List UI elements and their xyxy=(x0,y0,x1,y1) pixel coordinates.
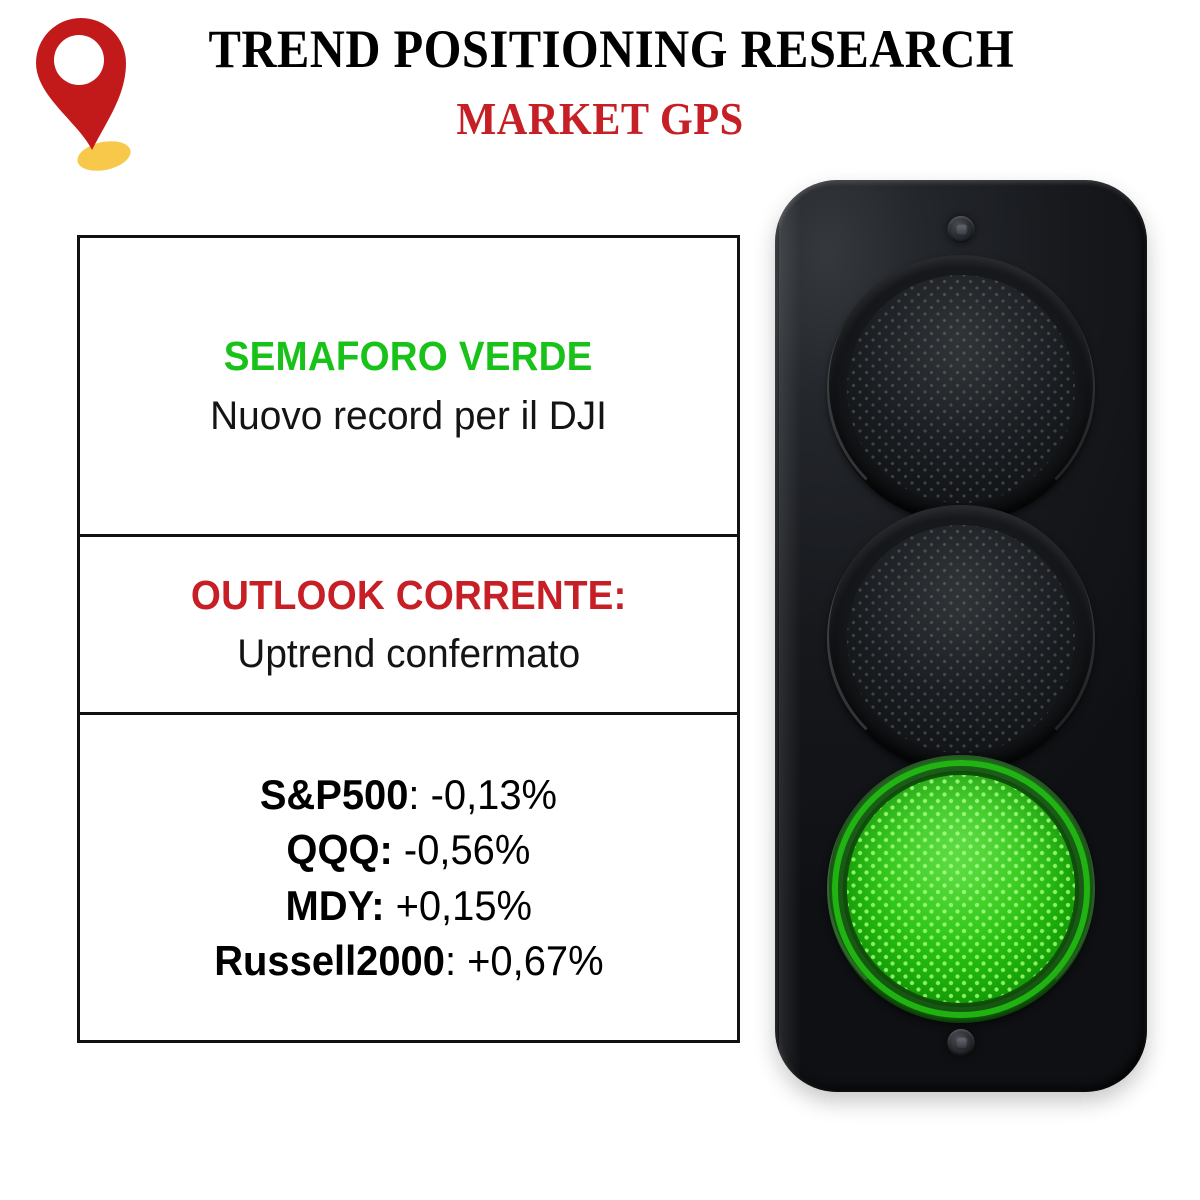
index-separator: : xyxy=(408,771,430,818)
outlook-subtext: Uptrend confermato xyxy=(237,632,580,676)
list-item: QQQ: -0,56% xyxy=(287,822,531,877)
index-separator xyxy=(393,826,404,873)
table-row-signal: SEMAFORO VERDE Nuovo record per il DJI xyxy=(80,238,737,537)
bottom-screw-icon xyxy=(948,1029,975,1056)
map-pin-icon xyxy=(8,10,168,175)
list-item: S&P500: -0,13% xyxy=(260,767,557,822)
red-lamp xyxy=(827,255,1095,523)
signal-status-subtext: Nuovo record per il DJI xyxy=(210,394,607,438)
index-value: -0,56% xyxy=(404,826,530,873)
green-lens xyxy=(847,775,1075,1003)
red-lens xyxy=(847,275,1075,503)
index-name: QQQ: xyxy=(287,826,393,873)
page-subtitle: MARKET GPS xyxy=(200,96,1000,142)
title-block: TREND POSITIONING RESEARCH MARKET GPS xyxy=(165,0,1035,142)
index-name: Russell2000 xyxy=(214,937,445,984)
index-value: -0,13% xyxy=(431,771,557,818)
traffic-light-icon xyxy=(775,180,1147,1092)
index-separator: : xyxy=(445,937,467,984)
yellow-lens xyxy=(847,525,1075,753)
list-item: MDY: +0,15% xyxy=(285,878,532,933)
outlook-heading: OUTLOOK CORRENTE: xyxy=(191,573,627,618)
list-item: Russell2000: +0,67% xyxy=(214,933,603,988)
index-separator xyxy=(384,882,395,929)
signal-status-heading: SEMAFORO VERDE xyxy=(224,334,593,379)
index-name: S&P500 xyxy=(260,771,409,818)
header: TREND POSITIONING RESEARCH MARKET GPS xyxy=(0,0,1200,175)
page-title: TREND POSITIONING RESEARCH xyxy=(209,22,992,76)
index-value: +0,15% xyxy=(395,882,531,929)
index-value: +0,67% xyxy=(467,937,603,984)
table-row-indices: S&P500: -0,13% QQQ: -0,56% MDY: +0,15% R… xyxy=(80,715,737,1040)
market-summary-table: SEMAFORO VERDE Nuovo record per il DJI O… xyxy=(77,235,740,1043)
yellow-lamp xyxy=(827,505,1095,773)
green-lamp xyxy=(827,755,1095,1023)
top-screw-icon xyxy=(948,216,975,243)
index-name: MDY: xyxy=(285,882,384,929)
table-row-outlook: OUTLOOK CORRENTE: Uptrend confermato xyxy=(80,537,737,715)
